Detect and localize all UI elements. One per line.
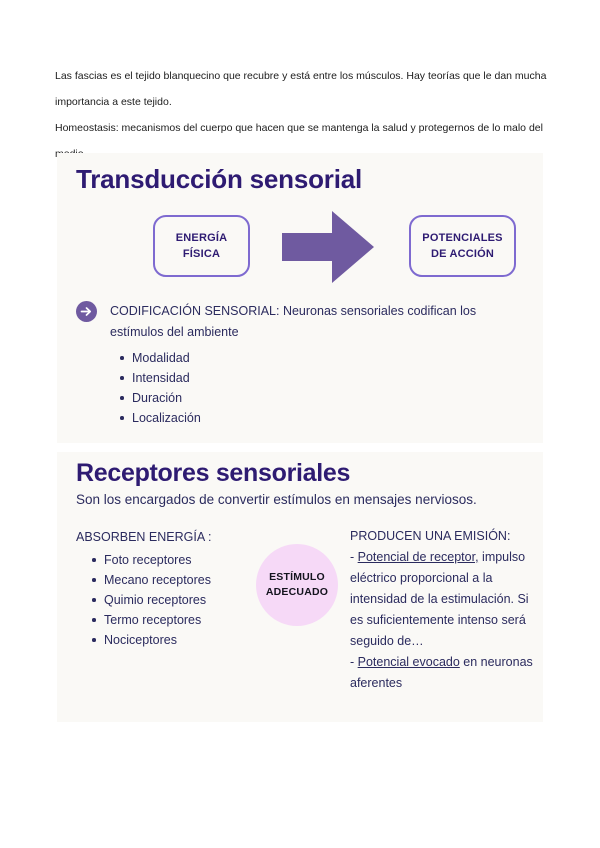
potencial-evocado-link: Potencial evocado bbox=[358, 655, 460, 669]
estimulo-adecuado-line2: ADECUADO bbox=[266, 585, 328, 600]
item2-dash: - bbox=[350, 655, 358, 669]
list-item: Modalidad bbox=[76, 348, 506, 368]
codificacion-sensorial-block: CODIFICACIÓN SENSORIAL: Neuronas sensori… bbox=[76, 301, 506, 428]
potenciales-line2: DE ACCIÓN bbox=[431, 246, 494, 262]
arrow-right-circle-icon bbox=[76, 301, 97, 322]
producen-emision-item-2: - Potencial evocado en neuronas aferente… bbox=[350, 652, 545, 694]
estimulo-adecuado-circle: ESTÍMULO ADECUADO bbox=[256, 544, 338, 626]
slide1-title: Transducción sensorial bbox=[76, 164, 362, 195]
estimulo-adecuado-line1: ESTÍMULO bbox=[269, 570, 325, 585]
list-item: Duración bbox=[76, 388, 506, 408]
slide2-title: Receptores sensoriales bbox=[76, 459, 350, 488]
slide-receptores-sensoriales: Receptores sensoriales Son los encargado… bbox=[57, 452, 543, 722]
list-item: Quimio receptores bbox=[76, 590, 286, 610]
absorben-energia-column: ABSORBEN ENERGÍA : Foto receptores Mecan… bbox=[76, 526, 286, 650]
potencial-de-receptor-link: Potencial de receptor, bbox=[358, 550, 479, 564]
transduction-flow-diagram: ENERGÍA FÍSICA POTENCIALES DE ACCIÓN bbox=[76, 215, 526, 293]
slide2-subtitle: Son los encargados de convertir estímulo… bbox=[76, 492, 477, 507]
energia-fisica-box: ENERGÍA FÍSICA bbox=[153, 215, 250, 277]
item1-rest: impulso eléctrico proporcional a la inte… bbox=[350, 550, 529, 648]
list-item: Mecano receptores bbox=[76, 570, 286, 590]
document-page: Las fascias es el tejido blanquecino que… bbox=[0, 0, 600, 848]
intro-notes: Las fascias es el tejido blanquecino que… bbox=[55, 63, 547, 167]
arrow-right-icon bbox=[282, 211, 374, 283]
slide-transduccion-sensorial: Transducción sensorial ENERGÍA FÍSICA PO… bbox=[57, 153, 543, 443]
intro-paragraph-1: Las fascias es el tejido blanquecino que… bbox=[55, 63, 547, 115]
list-item: Intensidad bbox=[76, 368, 506, 388]
absorben-energia-list: Foto receptores Mecano receptores Quimio… bbox=[76, 550, 286, 650]
list-item: Nociceptores bbox=[76, 630, 286, 650]
item1-dash: - bbox=[350, 550, 358, 564]
codificacion-list: Modalidad Intensidad Duración Localizaci… bbox=[76, 348, 506, 428]
producen-emision-heading: PRODUCEN UNA EMISIÓN: bbox=[350, 526, 545, 547]
energia-fisica-line2: FÍSICA bbox=[183, 246, 220, 262]
absorben-energia-heading: ABSORBEN ENERGÍA : bbox=[76, 526, 286, 548]
producen-emision-column: PRODUCEN UNA EMISIÓN: - Potencial de rec… bbox=[350, 526, 545, 694]
list-item: Foto receptores bbox=[76, 550, 286, 570]
potenciales-de-accion-box: POTENCIALES DE ACCIÓN bbox=[409, 215, 516, 277]
potenciales-line1: POTENCIALES bbox=[422, 230, 502, 246]
producen-emision-item-1: - Potencial de receptor, impulso eléctri… bbox=[350, 547, 545, 652]
list-item: Localización bbox=[76, 408, 506, 428]
energia-fisica-line1: ENERGÍA bbox=[176, 230, 228, 246]
list-item: Termo receptores bbox=[76, 610, 286, 630]
codificacion-sensorial-text: CODIFICACIÓN SENSORIAL: Neuronas sensori… bbox=[110, 301, 506, 343]
